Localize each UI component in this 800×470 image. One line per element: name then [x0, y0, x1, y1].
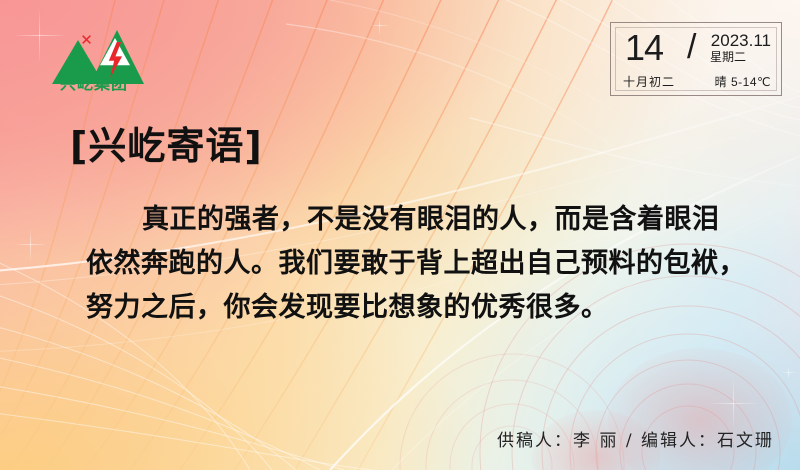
- quote-body: 真正的强者，不是没有眼泪的人，而是含着眼泪 依然奔跑的人。我们要敢于背上超出自己…: [86, 198, 766, 330]
- date-weekday: 星期二: [685, 50, 771, 64]
- credit-line: 供稿人：李 丽 / 编辑人：石文珊: [497, 430, 774, 452]
- date-year-month: 2023.11: [711, 31, 771, 50]
- date-box: 14 / 2023.11 星期二 十月初二 晴 5-14℃: [610, 22, 782, 96]
- sparkle-icon-bottom-right: [708, 378, 760, 430]
- logo-x-icon: ✕: [80, 34, 93, 47]
- sparkle-icon-mid-left: [14, 228, 48, 262]
- company-logo: ✕ 兴屹集团: [46, 18, 142, 88]
- quote-line: 依然奔跑的人。我们要敢于背上超出自己预料的包袱，: [86, 242, 766, 286]
- page-title: [兴屹寄语]: [70, 124, 263, 168]
- sparkle-icon-upper-right: [370, 16, 390, 36]
- weather-info: 晴 5-14℃: [715, 75, 771, 89]
- quote-line: 努力之后，你会发现要比想象的优秀很多。: [86, 286, 766, 330]
- poster-card: ✕ 兴屹集团 14 / 2023.11 星期二 十月初二 晴 5-14℃ [兴屹…: [0, 0, 800, 470]
- date-lunar: 十月初二: [623, 75, 675, 89]
- date-day: 14: [625, 29, 663, 67]
- quote-line: 真正的强者，不是没有眼泪的人，而是含着眼泪: [86, 198, 766, 242]
- sparkle-icon-dot-right: [782, 366, 796, 380]
- logo-text: 兴屹集团: [46, 70, 142, 94]
